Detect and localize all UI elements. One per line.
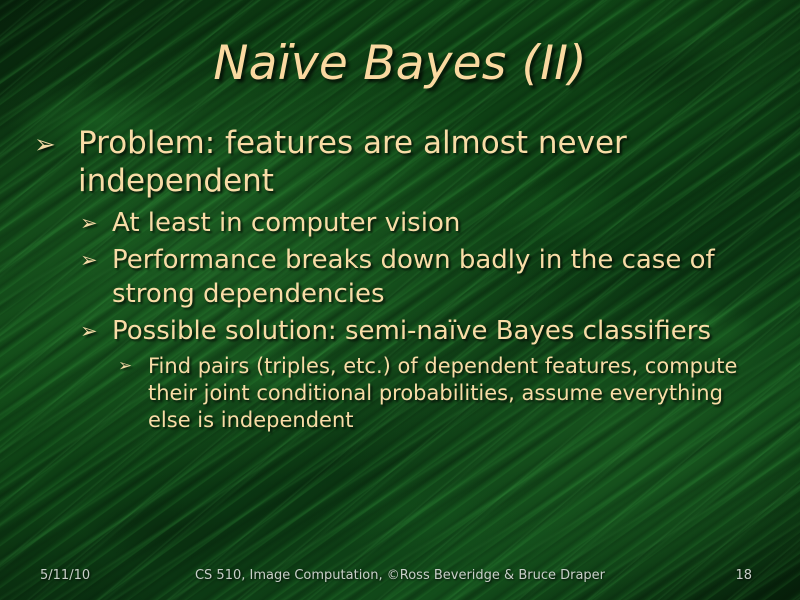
- arrowhead-bullet-icon: ➢: [34, 124, 78, 158]
- presentation-slide: Naïve Bayes (II) ➢ Problem: features are…: [0, 0, 800, 600]
- arrowhead-bullet-icon: ➢: [80, 314, 112, 342]
- bullet-text: At least in computer vision: [112, 206, 770, 240]
- arrowhead-bullet-icon: ➢: [80, 243, 112, 271]
- footer-attribution: CS 510, Image Computation, ©Ross Beverid…: [0, 565, 800, 587]
- bullet-level2-performance: ➢ Performance breaks down badly in the c…: [80, 243, 770, 311]
- bullet-text: Problem: features are almost never indep…: [78, 124, 770, 200]
- bullet-text: Performance breaks down badly in the cas…: [112, 243, 770, 311]
- arrowhead-bullet-icon: ➢: [80, 206, 112, 234]
- bullet-text: Find pairs (triples, etc.) of dependent …: [148, 353, 770, 434]
- bullet-level1-problem: ➢ Problem: features are almost never ind…: [34, 124, 770, 200]
- bullet-level2-possible-solution: ➢ Possible solution: semi-naïve Bayes cl…: [80, 314, 770, 348]
- bullet-text: Possible solution: semi-naïve Bayes clas…: [112, 314, 770, 348]
- footer-page-number: 18: [735, 565, 752, 587]
- slide-body-content: ➢ Problem: features are almost never ind…: [34, 124, 770, 434]
- bullet-level2-computer-vision: ➢ At least in computer vision: [80, 206, 770, 240]
- bullet-level3-find-pairs: ➢ Find pairs (triples, etc.) of dependen…: [118, 353, 770, 434]
- arrowhead-bullet-icon: ➢: [118, 353, 148, 375]
- slide-footer: 5/11/10 CS 510, Image Computation, ©Ross…: [0, 565, 800, 587]
- slide-title: Naïve Bayes (II): [0, 36, 800, 92]
